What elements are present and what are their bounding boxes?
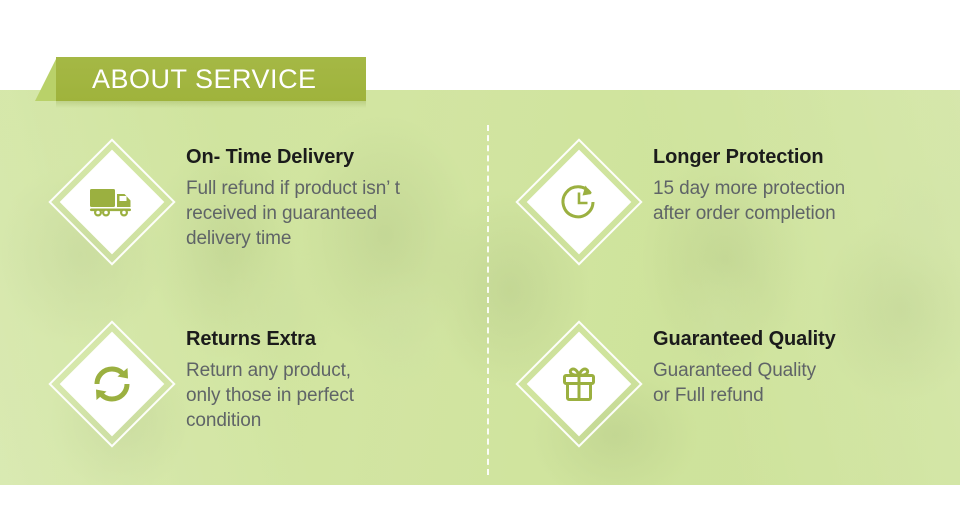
feature-body: Guaranteed Quality or Full refund [653,358,836,408]
feature-title: Longer Protection [653,146,845,169]
recycle-arrows-icon [86,358,138,410]
feature-title: Guaranteed Quality [653,328,836,351]
diamond-frame [48,138,176,266]
diamond-frame [515,320,643,448]
feature-guaranteed-quality: Guaranteed Quality Guaranteed Quality or… [515,320,836,448]
feature-title: On- Time Delivery [186,146,400,169]
feature-on-time-delivery: On- Time Delivery Full refund if product… [48,138,400,266]
feature-longer-protection: Longer Protection 15 day more protection… [515,138,845,266]
diamond-frame [48,320,176,448]
diamond-frame [515,138,643,266]
truck-icon [86,176,138,228]
feature-text: Guaranteed Quality Guaranteed Quality or… [653,320,836,408]
feature-text: Returns Extra Return any product, only t… [186,320,354,433]
feature-title: Returns Extra [186,328,354,351]
feature-text: On- Time Delivery Full refund if product… [186,138,400,251]
feature-text: Longer Protection 15 day more protection… [653,138,845,226]
gift-icon [553,358,605,410]
feature-grid: On- Time Delivery Full refund if product… [0,90,960,485]
feature-returns-extra: Returns Extra Return any product, only t… [48,320,354,448]
feature-body: Return any product, only those in perfec… [186,358,354,433]
service-banner-graphic: ABOUT SERVICE [0,0,960,518]
feature-body: 15 day more protection after order compl… [653,176,845,226]
feature-body: Full refund if product isn’ t received i… [186,176,400,251]
clock-rotate-icon [553,176,605,228]
